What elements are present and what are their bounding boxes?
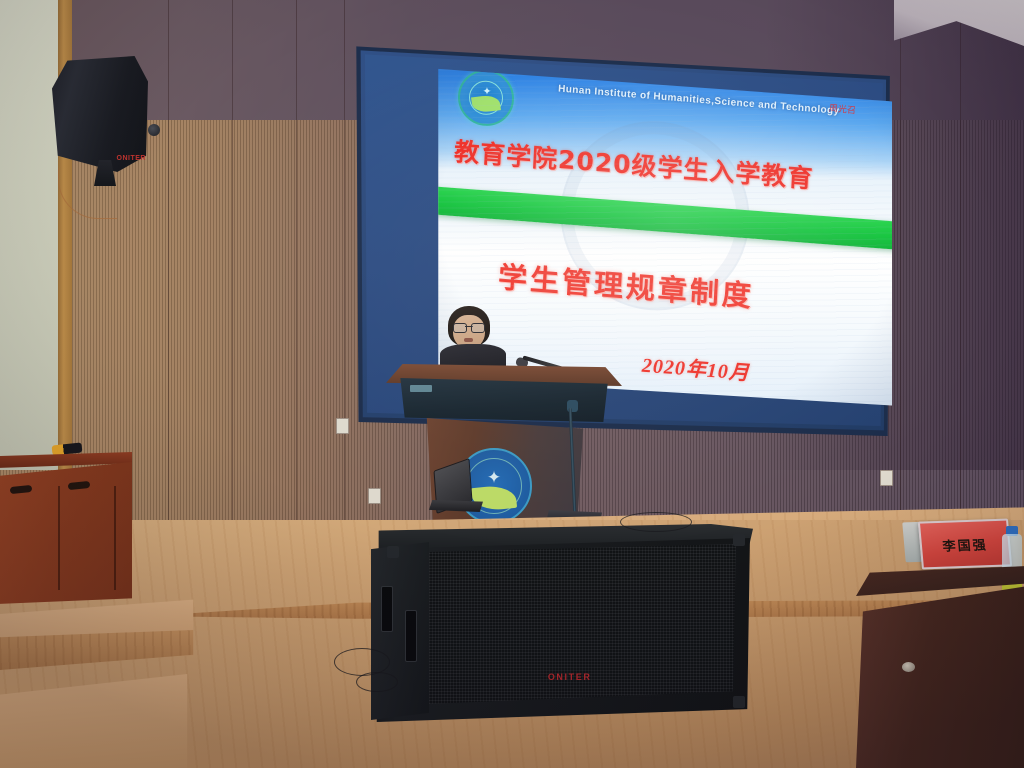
line-array-loudspeaker: ONITER bbox=[371, 524, 753, 722]
wall-mounted-loudspeaker: ONITER bbox=[52, 56, 156, 184]
wall-outlet bbox=[880, 470, 893, 486]
cabinet-corner-protector bbox=[733, 696, 745, 708]
wall-outlet bbox=[368, 488, 381, 504]
floor-cable bbox=[356, 672, 398, 692]
university-crest-icon: ✦ bbox=[458, 69, 514, 126]
cabinet-side-face bbox=[371, 542, 429, 720]
cabinet-corner-protector bbox=[387, 546, 399, 558]
name-placard: 李国强 bbox=[918, 519, 1012, 570]
speaker-brand-label: ONITER bbox=[548, 672, 592, 682]
name-placard-text: 李国强 bbox=[920, 521, 1010, 568]
tool-on-cabinet bbox=[52, 442, 83, 455]
speaker-brand-label: ONITER bbox=[117, 155, 146, 162]
wall-panel-seam bbox=[296, 0, 297, 560]
crest-wave-icon bbox=[471, 94, 501, 113]
wall-panel-seam bbox=[344, 0, 345, 560]
lectern-badge bbox=[410, 385, 432, 392]
lens-left bbox=[453, 323, 467, 333]
lectern: ✦ bbox=[386, 352, 622, 542]
calligraphy-seal: 周光召 bbox=[829, 101, 857, 116]
presenter-mouth bbox=[464, 338, 473, 342]
cabinet-handle[interactable] bbox=[405, 610, 417, 662]
cabinet-corner-protector bbox=[733, 534, 745, 546]
speaker-mount-knob bbox=[148, 124, 160, 136]
table-drawer-knob[interactable] bbox=[902, 662, 915, 672]
auditorium-photo: ONITER ✦ Hunan Institute of Humanities,S… bbox=[0, 0, 1024, 768]
lens-right bbox=[471, 323, 485, 333]
cabinet-door-seam bbox=[114, 486, 116, 590]
floor-cable bbox=[620, 512, 692, 532]
wall-panel-seam bbox=[168, 0, 169, 560]
eyeglasses-icon bbox=[453, 323, 485, 331]
slide-date-line: 2020年10月 bbox=[641, 349, 750, 386]
cabinet-handle[interactable] bbox=[381, 586, 393, 632]
head-table: 李国强 bbox=[856, 566, 1024, 768]
table-front-panel bbox=[856, 586, 1024, 768]
crest-star-icon: ✦ bbox=[486, 470, 502, 486]
presenter-laptop[interactable] bbox=[429, 464, 483, 512]
wooden-side-cabinet bbox=[0, 452, 132, 612]
wall-panel-seam bbox=[232, 0, 233, 560]
cabinet-door-seam bbox=[58, 486, 60, 590]
wall-outlet bbox=[336, 418, 349, 434]
cabinet-doors[interactable] bbox=[0, 462, 132, 604]
